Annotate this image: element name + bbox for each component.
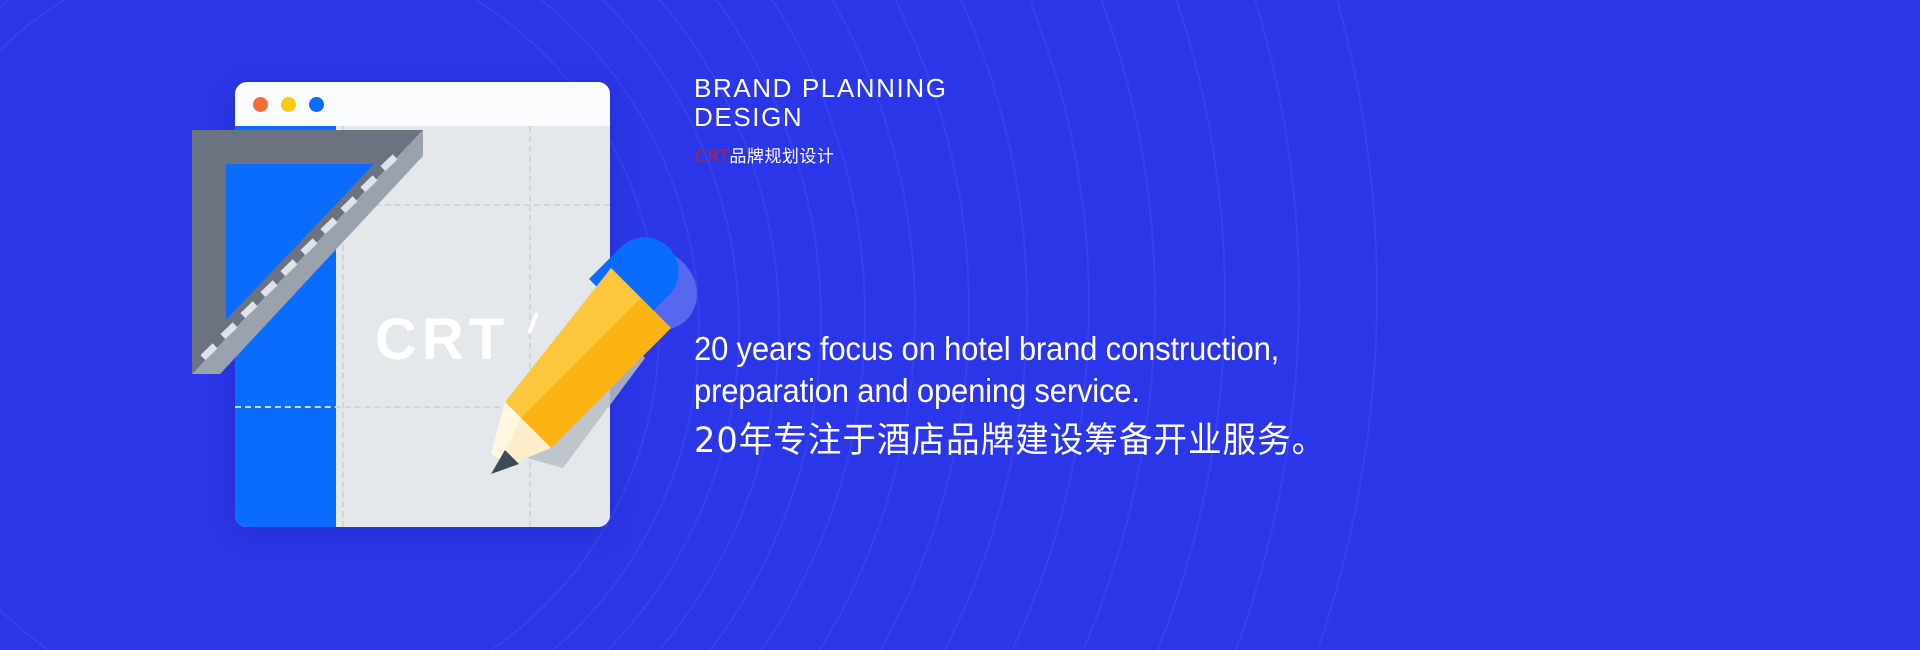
pencil-icon <box>485 230 705 490</box>
headline-subtitle-text: 品牌规划设计 <box>729 147 834 167</box>
brand-banner: CRT <box>0 0 1920 650</box>
headline-subtitle: CRT品牌规划设计 <box>695 142 834 167</box>
tagline-chinese: 20年专注于酒店品牌建设筹备开业服务。 <box>694 412 1326 463</box>
tagline-english: 20 years focus on hotel brand constructi… <box>694 328 1279 411</box>
window-titlebar <box>235 82 610 126</box>
minimize-dot-icon <box>281 97 296 112</box>
page-title: BRAND PLANNING DESIGN <box>694 74 948 132</box>
close-dot-icon <box>253 97 268 112</box>
triangle-ruler-icon <box>190 128 425 376</box>
brand-design-illustration: CRT <box>190 70 750 530</box>
headline-brand-mark: CRT <box>695 147 729 167</box>
maximize-dot-icon <box>309 97 324 112</box>
